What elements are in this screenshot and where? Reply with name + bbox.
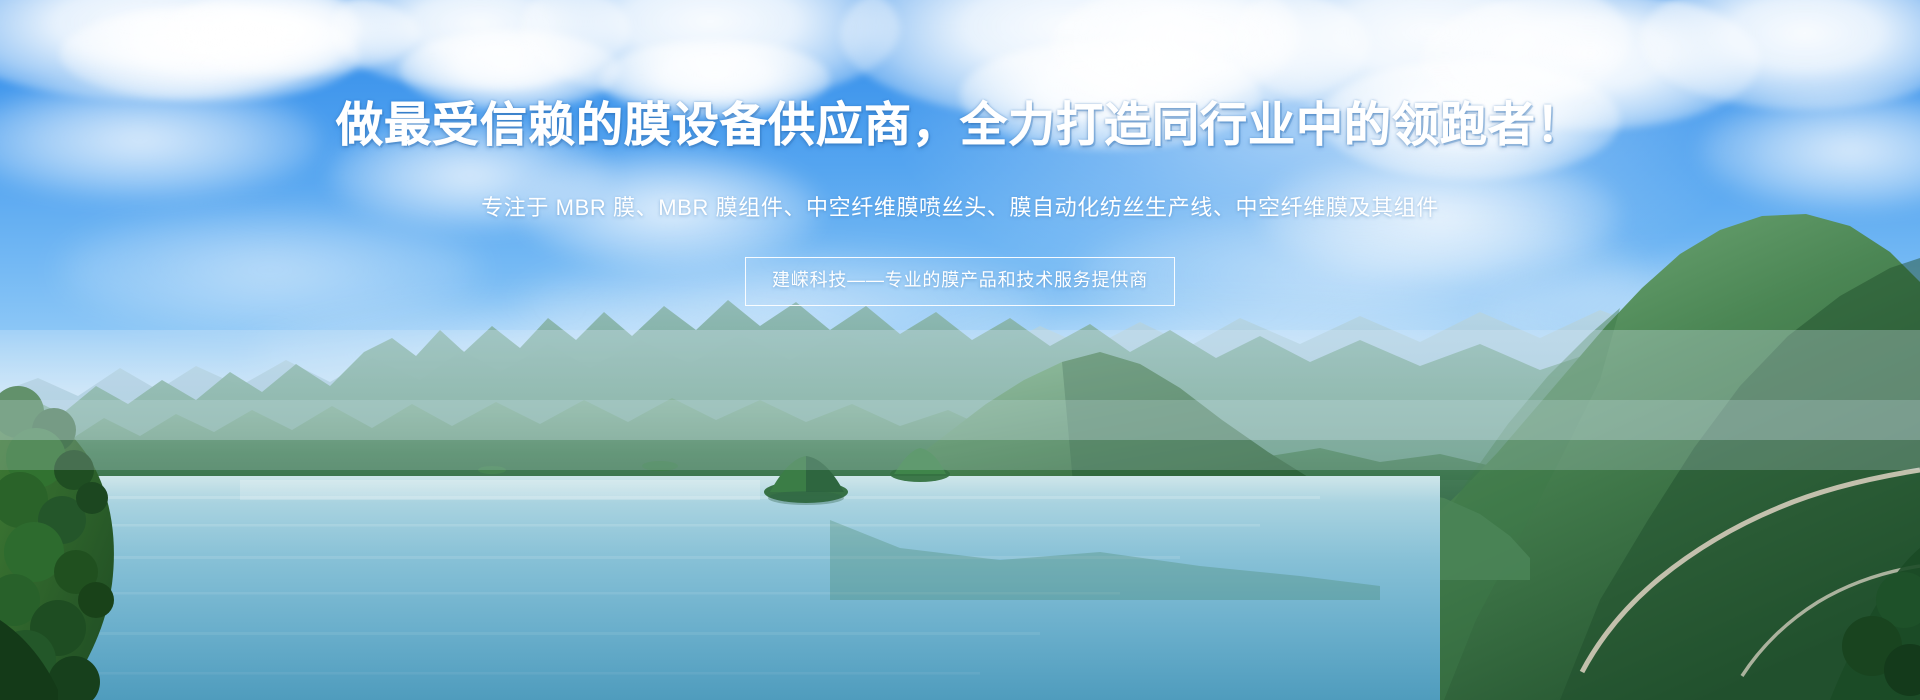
page-title: 做最受信赖的膜设备供应商，全力打造同行业中的领跑者！ (0, 0, 1920, 151)
hero-subtitle: 专注于 MBR 膜、MBR 膜组件、中空纤维膜喷丝头、膜自动化纺丝生产线、中空纤… (0, 151, 1920, 223)
hero-text-overlay: 做最受信赖的膜设备供应商，全力打造同行业中的领跑者！ 专注于 MBR 膜、MBR… (0, 0, 1920, 306)
company-tagline-box: 建嵘科技——专业的膜产品和技术服务提供商 (745, 257, 1175, 306)
tagline-wrapper: 建嵘科技——专业的膜产品和技术服务提供商 (745, 257, 1175, 306)
banner-hero: 做最受信赖的膜设备供应商，全力打造同行业中的领跑者！ 专注于 MBR 膜、MBR… (0, 0, 1920, 700)
